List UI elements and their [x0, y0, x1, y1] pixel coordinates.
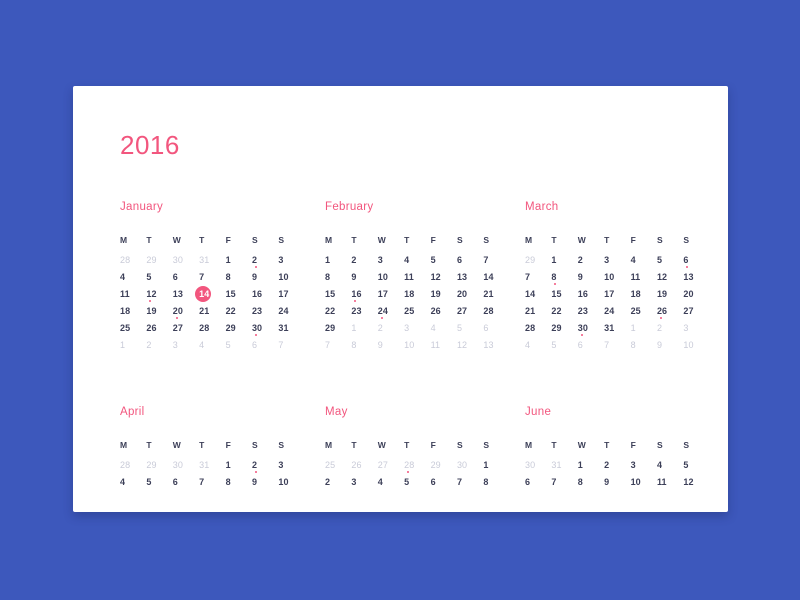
day-number: 18 [631, 287, 641, 301]
day-cell[interactable]: 8 [578, 475, 604, 489]
day-number: 18 [404, 287, 414, 301]
day-number: 5 [657, 253, 662, 267]
day-cell[interactable]: 31 [199, 458, 225, 472]
day-cell[interactable]: 15 [226, 287, 252, 301]
day-number: 8 [551, 270, 556, 284]
weekday-label: T [404, 441, 430, 450]
day-cell[interactable]: 29 [325, 321, 351, 335]
day-cell[interactable]: 4 [199, 338, 225, 352]
day-cell[interactable]: 30 [252, 321, 278, 335]
day-cell[interactable]: 12 [657, 270, 683, 284]
day-number: 4 [404, 253, 409, 267]
weekday-label: S [657, 441, 683, 450]
weekday-label: M [120, 441, 146, 450]
day-number: 6 [525, 475, 530, 489]
day-cell[interactable]: 1 [226, 458, 252, 472]
day-number: 2 [325, 475, 330, 489]
day-cell[interactable]: 12 [431, 270, 457, 284]
day-number: 2 [351, 253, 356, 267]
day-number: 13 [457, 270, 467, 284]
week-row: 29123456 [525, 253, 725, 267]
day-cell[interactable]: 25 [404, 304, 430, 318]
day-cell[interactable]: 7 [525, 270, 551, 284]
weekday-label: M [525, 236, 551, 245]
day-cell[interactable]: 26 [351, 458, 377, 472]
day-cell[interactable]: 6 [431, 475, 457, 489]
day-cell[interactable]: 11 [431, 338, 457, 352]
day-cell[interactable]: 3 [631, 458, 657, 472]
day-number: 29 [431, 458, 441, 472]
day-cell[interactable]: 7 [551, 475, 577, 489]
day-cell[interactable]: 1 [578, 458, 604, 472]
day-cell[interactable]: 7 [199, 475, 225, 489]
day-cell[interactable]: 2 [325, 475, 351, 489]
day-cell[interactable]: 5 [683, 458, 709, 472]
week-row: 11121314151617 [120, 287, 325, 301]
day-cell[interactable]: 5 [431, 253, 457, 267]
day-cell[interactable]: 7 [604, 338, 630, 352]
day-number: 5 [146, 270, 151, 284]
day-cell[interactable]: 2 [378, 321, 404, 335]
day-cell[interactable]: 17 [278, 287, 304, 301]
day-cell[interactable]: 1 [226, 253, 252, 267]
day-cell[interactable]: 3 [378, 253, 404, 267]
day-cell[interactable]: 9 [378, 338, 404, 352]
day-cell[interactable]: 8 [226, 475, 252, 489]
day-cell[interactable]: 11 [404, 270, 430, 284]
day-number: 30 [578, 321, 588, 335]
day-number: 8 [226, 475, 231, 489]
week-row: 14151617181920 [525, 287, 725, 301]
day-cell[interactable]: 12 [146, 287, 172, 301]
day-cell[interactable]: 9 [252, 270, 278, 284]
day-cell[interactable]: 29 [226, 321, 252, 335]
day-cell[interactable]: 8 [551, 270, 577, 284]
day-cell[interactable]: 28 [199, 321, 225, 335]
day-cell[interactable]: 21 [483, 287, 509, 301]
day-number: 7 [199, 270, 204, 284]
day-number: 13 [483, 338, 493, 352]
day-cell[interactable]: 28 [483, 304, 509, 318]
day-number: 14 [525, 287, 535, 301]
day-cell[interactable]: 19 [431, 287, 457, 301]
day-number: 7 [457, 475, 462, 489]
week-row: 891011121314 [325, 270, 525, 284]
day-number: 26 [351, 458, 361, 472]
day-cell[interactable]: 18 [631, 287, 657, 301]
day-cell[interactable]: 15 [551, 287, 577, 301]
month-label[interactable]: January [120, 202, 325, 214]
day-cell[interactable]: 5 [657, 253, 683, 267]
day-number: 7 [483, 253, 488, 267]
day-cell[interactable]: 8 [483, 475, 509, 489]
day-cell[interactable]: 19 [146, 304, 172, 318]
day-cell[interactable]: 28 [120, 253, 146, 267]
day-cell[interactable]: 1 [551, 253, 577, 267]
day-number: 26 [431, 304, 441, 318]
day-number: 28 [199, 321, 209, 335]
day-cell[interactable]: 13 [683, 270, 709, 284]
day-cell[interactable]: 3 [351, 475, 377, 489]
day-cell[interactable]: 8 [325, 270, 351, 284]
day-cell[interactable]: 30 [457, 458, 483, 472]
week-row: 29123456 [325, 321, 525, 335]
weekday-label: T [604, 441, 630, 450]
day-cell[interactable]: 23 [351, 304, 377, 318]
day-cell[interactable]: 27 [683, 304, 709, 318]
day-cell[interactable]: 6 [457, 253, 483, 267]
day-cell[interactable]: 24 [278, 304, 304, 318]
day-cell[interactable]: 8 [631, 338, 657, 352]
day-cell[interactable]: 20 [683, 287, 709, 301]
day-cell[interactable]: 23 [252, 304, 278, 318]
day-cell[interactable]: 4 [378, 475, 404, 489]
day-number: 30 [173, 253, 183, 267]
day-cell[interactable]: 6 [173, 475, 199, 489]
weekday-label: W [173, 236, 199, 245]
day-cell[interactable]: 1 [120, 338, 146, 352]
weekday-label: W [578, 236, 604, 245]
day-cell[interactable]: 29 [431, 458, 457, 472]
day-number: 9 [351, 270, 356, 284]
day-cell[interactable]: 7 [325, 338, 351, 352]
weekday-label: T [199, 441, 225, 450]
day-number: 5 [431, 253, 436, 267]
day-cell[interactable]: 2 [252, 253, 278, 267]
day-number: 9 [378, 338, 383, 352]
day-cell[interactable]: 11 [657, 475, 683, 489]
day-number: 4 [431, 321, 436, 335]
day-cell[interactable]: 5 [146, 475, 172, 489]
day-cell[interactable]: 25 [325, 458, 351, 472]
day-number: 2 [604, 458, 609, 472]
day-cell[interactable]: 27 [378, 458, 404, 472]
day-number: 25 [325, 458, 335, 472]
day-cell[interactable]: 17 [378, 287, 404, 301]
day-number: 4 [120, 475, 125, 489]
month-label[interactable]: March [525, 202, 725, 214]
day-cell[interactable]: 26 [431, 304, 457, 318]
day-cell[interactable]: 11 [631, 270, 657, 284]
day-cell[interactable]: 10 [683, 338, 709, 352]
day-cell[interactable]: 20 [457, 287, 483, 301]
day-number: 9 [252, 475, 257, 489]
day-cell[interactable]: 7 [483, 253, 509, 267]
day-number: 5 [404, 475, 409, 489]
day-cell[interactable]: 9 [657, 338, 683, 352]
day-cell[interactable]: 21 [199, 304, 225, 318]
day-cell[interactable]: 1 [325, 253, 351, 267]
day-cell[interactable]: 4 [631, 253, 657, 267]
week-row: 2526272829301 [325, 458, 525, 472]
day-number: 10 [683, 338, 693, 352]
day-number: 11 [120, 287, 130, 301]
day-cell[interactable]: 3 [604, 253, 630, 267]
day-number: 2 [378, 321, 383, 335]
day-number: 6 [173, 475, 178, 489]
day-cell[interactable]: 18 [404, 287, 430, 301]
day-cell[interactable]: 1 [631, 321, 657, 335]
day-cell[interactable]: 10 [278, 475, 304, 489]
weekday-label: T [351, 441, 377, 450]
day-number: 8 [351, 338, 356, 352]
day-cell[interactable]: 6 [252, 338, 278, 352]
day-cell[interactable]: 9 [351, 270, 377, 284]
day-cell[interactable]: 10 [631, 475, 657, 489]
weekday-label: T [404, 236, 430, 245]
weekday-label: W [378, 236, 404, 245]
day-number: 31 [199, 253, 209, 267]
day-number: 9 [657, 338, 662, 352]
day-cell[interactable]: 2 [252, 458, 278, 472]
weekday-label: S [483, 236, 509, 245]
week-row: 45678910 [120, 475, 325, 489]
day-cell[interactable]: 24 [604, 304, 630, 318]
weekday-header-row: MTWTFSS [120, 236, 325, 245]
weekday-label: M [325, 236, 351, 245]
day-number: 29 [325, 321, 335, 335]
weekday-label: T [551, 441, 577, 450]
day-number: 30 [173, 458, 183, 472]
day-cell[interactable]: 4 [120, 270, 146, 284]
day-cell[interactable]: 9 [252, 475, 278, 489]
month-label[interactable]: June [525, 407, 725, 419]
day-number: 15 [551, 287, 561, 301]
month-february: FebruaryMTWTFSS1234567891011121314151617… [325, 202, 525, 407]
day-cell[interactable]: 5 [146, 270, 172, 284]
day-cell[interactable]: 30 [578, 321, 604, 335]
day-cell[interactable]: 1 [483, 458, 509, 472]
day-cell[interactable]: 28 [525, 321, 551, 335]
day-number: 11 [631, 270, 641, 284]
day-cell[interactable]: 31 [551, 458, 577, 472]
day-cell[interactable]: 28 [120, 458, 146, 472]
day-cell[interactable]: 3 [173, 338, 199, 352]
day-number: 3 [631, 458, 636, 472]
day-number: 11 [657, 475, 667, 489]
day-cell[interactable]: 21 [525, 304, 551, 318]
day-cell[interactable]: 4 [404, 253, 430, 267]
day-number: 9 [578, 270, 583, 284]
day-number: 6 [457, 253, 462, 267]
week-row: 78910111213 [325, 338, 525, 352]
day-number: 22 [551, 304, 561, 318]
weekday-label: S [252, 236, 278, 245]
day-cell[interactable]: 5 [457, 321, 483, 335]
day-cell[interactable]: 10 [604, 270, 630, 284]
day-cell[interactable]: 6 [173, 270, 199, 284]
day-cell[interactable]: 3 [278, 458, 304, 472]
day-cell[interactable]: 14 [525, 287, 551, 301]
day-cell[interactable]: 30 [525, 458, 551, 472]
day-cell[interactable]: 25 [120, 321, 146, 335]
day-number: 2 [252, 458, 257, 472]
day-cell[interactable]: 2 [146, 338, 172, 352]
day-cell[interactable]: 5 [226, 338, 252, 352]
day-cell[interactable]: 12 [683, 475, 709, 489]
day-cell[interactable]: 20 [173, 304, 199, 318]
day-number: 22 [325, 304, 335, 318]
weekday-label: T [551, 236, 577, 245]
day-cell[interactable]: 2 [578, 253, 604, 267]
day-number: 19 [657, 287, 667, 301]
day-number: 2 [146, 338, 151, 352]
day-number: 6 [578, 338, 583, 352]
day-number: 29 [226, 321, 236, 335]
day-cell[interactable]: 17 [604, 287, 630, 301]
app-background: 2016 JanuaryMTWTFSS282930311234567891011… [0, 0, 800, 600]
day-cell[interactable]: 10 [278, 270, 304, 284]
day-cell[interactable]: 23 [578, 304, 604, 318]
weekday-label: F [431, 236, 457, 245]
day-number: 1 [226, 253, 231, 267]
day-cell[interactable]: 6 [525, 475, 551, 489]
day-cell[interactable]: 9 [604, 475, 630, 489]
day-number: 7 [551, 475, 556, 489]
day-cell[interactable]: 31 [604, 321, 630, 335]
day-cell[interactable]: 31 [278, 321, 304, 335]
day-cell[interactable]: 19 [657, 287, 683, 301]
day-number: 13 [173, 287, 183, 301]
day-number: 7 [525, 270, 530, 284]
day-cell[interactable]: 22 [325, 304, 351, 318]
day-number: 23 [351, 304, 361, 318]
day-cell[interactable]: 13 [483, 338, 509, 352]
day-cell[interactable]: 5 [404, 475, 430, 489]
day-number: 8 [483, 475, 488, 489]
day-cell[interactable]: 30 [173, 458, 199, 472]
weekday-label: W [378, 441, 404, 450]
day-cell[interactable]: 5 [551, 338, 577, 352]
day-cell[interactable]: 22 [226, 304, 252, 318]
day-cell[interactable]: 6 [483, 321, 509, 335]
day-number: 3 [604, 253, 609, 267]
day-cell[interactable]: 2 [604, 458, 630, 472]
day-number: 6 [483, 321, 488, 335]
day-cell[interactable]: 13 [457, 270, 483, 284]
day-cell[interactable]: 16 [578, 287, 604, 301]
day-cell[interactable]: 26 [146, 321, 172, 335]
day-cell[interactable]: 4 [657, 458, 683, 472]
day-cell[interactable]: 7 [199, 270, 225, 284]
month-label[interactable]: May [325, 407, 525, 419]
day-cell[interactable]: 27 [457, 304, 483, 318]
day-cell[interactable]: 29 [525, 253, 551, 267]
day-cell[interactable]: 3 [404, 321, 430, 335]
weekday-label: F [631, 236, 657, 245]
day-number: 3 [173, 338, 178, 352]
day-cell[interactable]: 16 [351, 287, 377, 301]
month-label[interactable]: April [120, 407, 325, 419]
day-cell[interactable]: 15 [325, 287, 351, 301]
day-number: 6 [173, 270, 178, 284]
weekday-label: M [325, 441, 351, 450]
week-row: 6789101112 [525, 475, 725, 489]
day-cell[interactable]: 29 [146, 458, 172, 472]
week-row: 2345678 [325, 475, 525, 489]
day-number: 7 [325, 338, 330, 352]
day-cell[interactable]: 31 [199, 253, 225, 267]
day-cell[interactable]: 30 [173, 253, 199, 267]
day-cell[interactable]: 24 [378, 304, 404, 318]
day-cell[interactable]: 7 [278, 338, 304, 352]
day-cell[interactable]: 4 [120, 475, 146, 489]
day-number: 29 [146, 253, 156, 267]
weekday-label: T [146, 441, 172, 450]
day-cell[interactable]: 28 [404, 458, 430, 472]
week-row: 45678910 [525, 338, 725, 352]
day-cell-selected[interactable]: 14 [199, 287, 225, 301]
day-number: 20 [173, 304, 183, 318]
day-number: 19 [146, 304, 156, 318]
day-cell[interactable]: 4 [431, 321, 457, 335]
day-number: 5 [226, 338, 231, 352]
weekday-label: S [457, 236, 483, 245]
month-march: MarchMTWTFSS2912345678910111213141516171… [525, 202, 725, 407]
month-label[interactable]: February [325, 202, 525, 214]
day-cell[interactable]: 1 [351, 321, 377, 335]
day-number: 7 [278, 338, 283, 352]
weekday-label: S [252, 441, 278, 450]
day-cell[interactable]: 10 [378, 270, 404, 284]
day-cell[interactable]: 10 [404, 338, 430, 352]
day-cell[interactable]: 8 [351, 338, 377, 352]
day-cell[interactable]: 12 [457, 338, 483, 352]
weekday-header-row: MTWTFSS [325, 236, 525, 245]
day-cell[interactable]: 6 [683, 253, 709, 267]
day-number: 4 [525, 338, 530, 352]
day-cell[interactable]: 6 [578, 338, 604, 352]
day-cell[interactable]: 29 [146, 253, 172, 267]
day-cell[interactable]: 22 [551, 304, 577, 318]
day-number: 1 [351, 321, 356, 335]
day-cell[interactable]: 2 [657, 321, 683, 335]
day-number: 27 [457, 304, 467, 318]
weekday-header-row: MTWTFSS [325, 441, 525, 450]
day-cell[interactable]: 9 [578, 270, 604, 284]
day-number: 3 [404, 321, 409, 335]
day-cell[interactable]: 2 [351, 253, 377, 267]
day-number: 14 [483, 270, 493, 284]
day-cell[interactable]: 4 [525, 338, 551, 352]
day-cell[interactable]: 8 [226, 270, 252, 284]
day-cell[interactable]: 25 [631, 304, 657, 318]
day-number: 4 [631, 253, 636, 267]
day-number: 29 [525, 253, 535, 267]
day-number: 16 [351, 287, 361, 301]
day-number: 1 [551, 253, 556, 267]
day-number: 1 [483, 458, 488, 472]
week-row: 78910111213 [525, 270, 725, 284]
day-cell[interactable]: 11 [120, 287, 146, 301]
day-cell[interactable]: 3 [278, 253, 304, 267]
day-number: 21 [199, 304, 209, 318]
day-cell[interactable]: 27 [173, 321, 199, 335]
day-cell[interactable]: 26 [657, 304, 683, 318]
day-cell[interactable]: 16 [252, 287, 278, 301]
day-number: 19 [431, 287, 441, 301]
weekday-label: F [226, 441, 252, 450]
day-cell[interactable]: 7 [457, 475, 483, 489]
day-number: 8 [226, 270, 231, 284]
day-cell[interactable]: 14 [483, 270, 509, 284]
day-number: 16 [578, 287, 588, 301]
day-number: 7 [199, 475, 204, 489]
day-number: 30 [252, 321, 262, 335]
day-cell[interactable]: 3 [683, 321, 709, 335]
day-cell[interactable]: 29 [551, 321, 577, 335]
day-cell[interactable]: 18 [120, 304, 146, 318]
